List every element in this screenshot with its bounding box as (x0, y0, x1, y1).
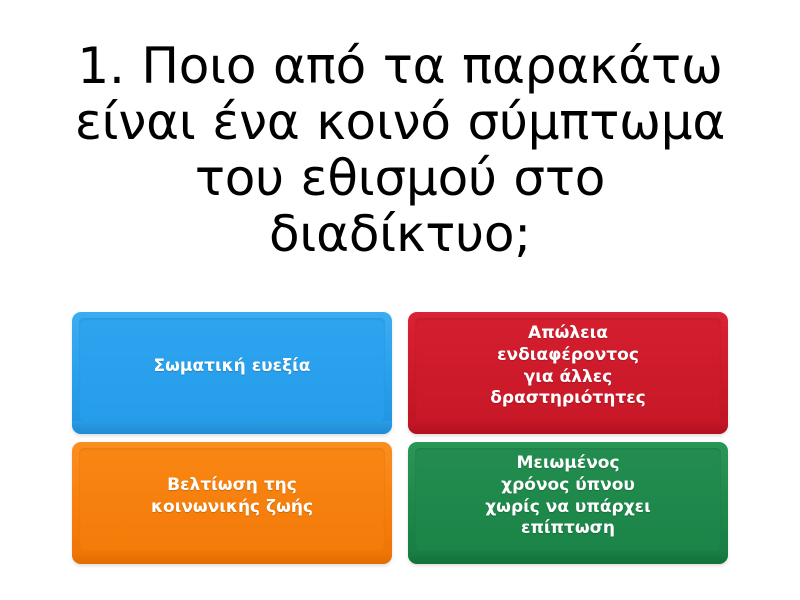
answer-option-3[interactable]: Βελτίωση της κοινωνικής ζωής (72, 442, 392, 564)
answer-options-grid: Σωματική ευεξία Απώλεια ενδιαφέροντος γι… (72, 312, 728, 564)
question-area: 1. Ποιο από τα παρακάτω είναι ένα κοινό … (0, 10, 800, 290)
answer-option-4-label: Μειωμένος χρόνος ύπνου χωρίς να υπάρχει … (485, 453, 651, 540)
answer-option-1-label: Σωματική ευεξία (154, 356, 311, 378)
answer-option-2[interactable]: Απώλεια ενδιαφέροντος για άλλες δραστηρι… (408, 312, 728, 434)
quiz-slide: 1. Ποιο από τα παρακάτω είναι ένα κοινό … (0, 0, 800, 600)
answer-option-1[interactable]: Σωματική ευεξία (72, 312, 392, 434)
answer-option-2-label: Απώλεια ενδιαφέροντος για άλλες δραστηρι… (490, 323, 646, 410)
answer-option-4[interactable]: Μειωμένος χρόνος ύπνου χωρίς να υπάρχει … (408, 442, 728, 564)
answer-option-3-label: Βελτίωση της κοινωνικής ζωής (151, 475, 313, 519)
question-text: 1. Ποιο από τα παρακάτω είναι ένα κοινό … (60, 38, 740, 262)
